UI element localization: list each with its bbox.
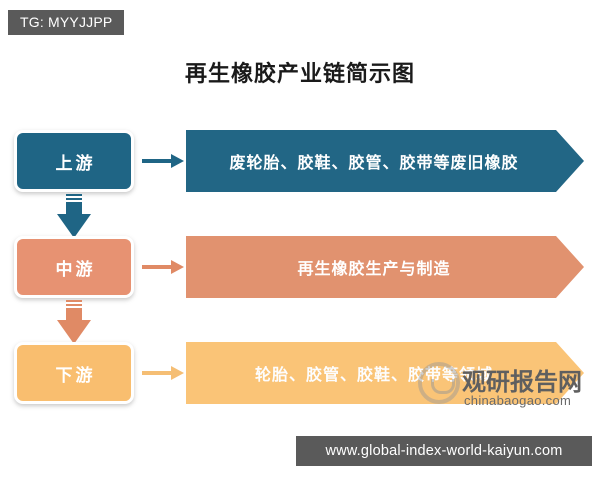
flow-arrow-upstream-to-midstream bbox=[57, 194, 91, 238]
arrow-head-icon bbox=[57, 214, 91, 238]
arrow-head-icon bbox=[171, 154, 184, 168]
stage-label-upstream: 上游 bbox=[53, 149, 96, 174]
stage-label-midstream: 中游 bbox=[53, 255, 96, 280]
footer-url-text: www.global-index-world-kaiyun.com bbox=[325, 443, 562, 459]
industry-chain-diagram: 上游 废轮胎、胶鞋、胶管、胶带等废旧橡胶 中游 再生橡胶生产与制造 bbox=[0, 118, 600, 418]
chain-row-downstream: 下游 轮胎、胶管、胶鞋、胶带等领域 bbox=[0, 342, 600, 404]
chain-banner-downstream[interactable]: 轮胎、胶管、胶鞋、胶带等领域 bbox=[186, 342, 584, 404]
tg-tag: TG: MYYJJPP bbox=[8, 10, 124, 35]
connector-arrow-midstream bbox=[142, 260, 184, 274]
arrow-shaft bbox=[142, 265, 172, 269]
chain-banner-label-downstream: 轮胎、胶管、胶鞋、胶带等领域 bbox=[255, 361, 515, 385]
chain-row-midstream: 中游 再生橡胶生产与制造 bbox=[0, 236, 600, 298]
connector-arrow-downstream bbox=[142, 366, 184, 380]
chain-banner-midstream[interactable]: 再生橡胶生产与制造 bbox=[186, 236, 584, 298]
stage-box-downstream[interactable]: 下游 bbox=[14, 342, 134, 404]
stage-label-downstream: 下游 bbox=[53, 361, 96, 386]
arrow-notch bbox=[66, 200, 82, 202]
arrow-head-icon bbox=[171, 366, 184, 380]
stage-box-midstream[interactable]: 中游 bbox=[14, 236, 134, 298]
arrow-shaft bbox=[142, 159, 172, 163]
chain-banner-upstream[interactable]: 废轮胎、胶鞋、胶管、胶带等废旧橡胶 bbox=[186, 130, 584, 192]
arrow-head-icon bbox=[171, 260, 184, 274]
arrow-notch bbox=[66, 302, 82, 304]
chain-banner-label-midstream: 再生橡胶生产与制造 bbox=[297, 255, 472, 279]
arrow-shaft bbox=[142, 371, 172, 375]
footer-url-bar: www.global-index-world-kaiyun.com bbox=[296, 436, 592, 466]
flow-arrow-midstream-to-downstream bbox=[57, 300, 91, 344]
arrow-head-icon bbox=[57, 320, 91, 344]
connector-arrow-upstream bbox=[142, 154, 184, 168]
arrow-notch bbox=[66, 196, 82, 198]
chain-banner-label-upstream: 废轮胎、胶鞋、胶管、胶带等废旧橡胶 bbox=[229, 149, 540, 173]
page-title: 再生橡胶产业链简示图 bbox=[0, 56, 600, 88]
arrow-notch bbox=[66, 306, 82, 308]
stage-box-upstream[interactable]: 上游 bbox=[14, 130, 134, 192]
chain-row-upstream: 上游 废轮胎、胶鞋、胶管、胶带等废旧橡胶 bbox=[0, 130, 600, 192]
